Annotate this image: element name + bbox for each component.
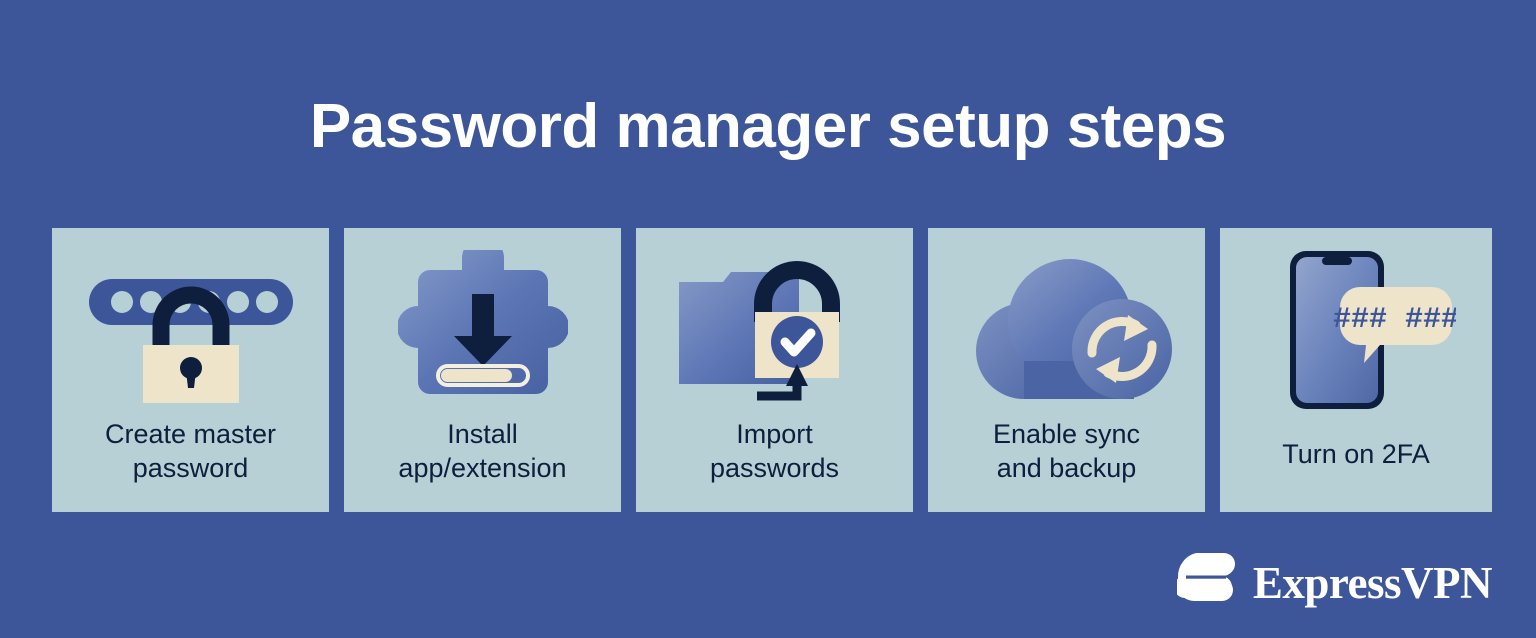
step-2-icon [344,242,621,414]
step-3-label: Import passwords [636,417,913,486]
steps-row: Create master password [52,228,1492,512]
step-5-label-line1: Turn on 2FA [1226,437,1486,472]
step-4-icon [928,242,1205,414]
step-4-label-line1: Enable sync [934,417,1199,452]
step-3-label-line1: Import [642,417,907,452]
step-2-label-line1: Install [350,417,615,452]
infographic-canvas: Password manager setup steps [0,0,1536,638]
step-2-label-line2: app/extension [350,451,615,486]
step-2-label: Install app/extension [344,417,621,486]
step-card-5[interactable]: ### ### Turn on 2FA [1220,228,1492,512]
expressvpn-wordmark: ExpressVPN [1253,561,1492,606]
step-1-label-line2: password [58,451,323,486]
cloud-sync-icon [962,253,1172,403]
expressvpn-logo-icon [1177,552,1235,614]
step-1-label: Create master password [52,417,329,486]
expressvpn-logo[interactable]: ExpressVPN [1177,552,1492,614]
step-1-icon [52,242,329,414]
step-4-label-line2: and backup [934,451,1199,486]
step-card-3[interactable]: Import passwords [636,228,913,512]
step-4-label: Enable sync and backup [928,417,1205,486]
step-card-1[interactable]: Create master password [52,228,329,512]
folder-lock-check-icon [675,246,875,411]
step-1-label-line1: Create master [58,417,323,452]
step-3-label-line2: passwords [642,451,907,486]
puzzle-download-icon [398,250,568,406]
step-5-label: Turn on 2FA [1220,437,1492,472]
step-3-icon [636,242,913,414]
step-5-icon: ### ### [1220,242,1492,414]
password-field-lock-icon [81,253,301,403]
step-card-4[interactable]: Enable sync and backup [928,228,1205,512]
step-card-2[interactable]: Install app/extension [344,228,621,512]
phone-otp-icon: ### ### [1256,243,1456,413]
page-title: Password manager setup steps [0,94,1536,159]
otp-code-text: ### ### [1333,303,1456,337]
